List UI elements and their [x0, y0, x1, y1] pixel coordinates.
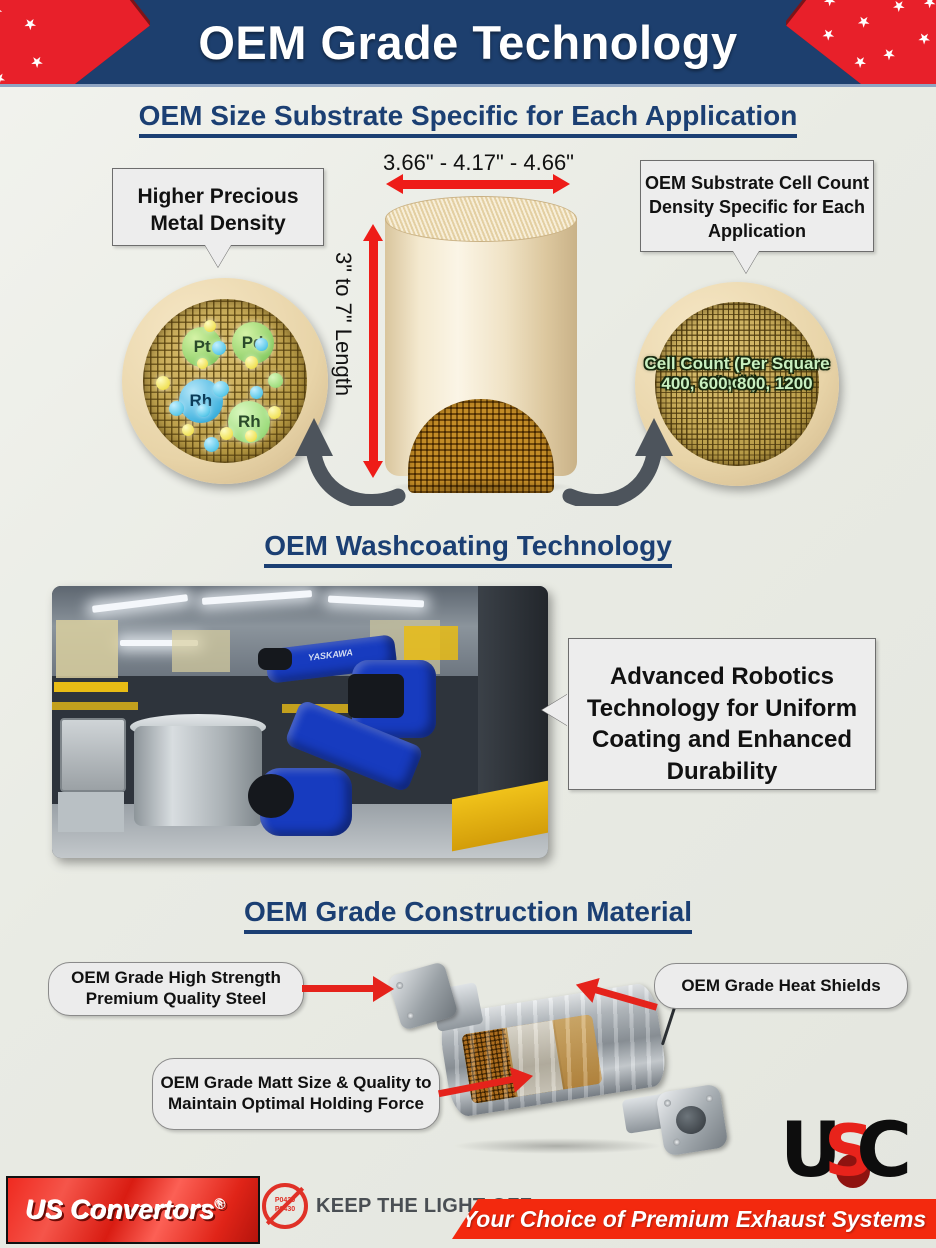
callout-matt-size: OEM Grade Matt Size & Quality to Maintai…	[152, 1058, 440, 1130]
callout-heat-shields: OEM Grade Heat Shields	[654, 963, 908, 1009]
flange-bolt	[406, 1011, 415, 1020]
particle	[212, 341, 226, 355]
robotics-photo: YASKAWA	[52, 586, 548, 858]
flange-bolt	[664, 1099, 672, 1107]
section-heading-construction-text: OEM Grade Construction Material	[244, 896, 692, 934]
photo-guardrail	[52, 702, 138, 710]
callout-advanced-robotics: Advanced Robotics Technology for Uniform…	[568, 638, 876, 790]
converter-shadow	[452, 1138, 662, 1154]
callout-premium-steel: OEM Grade High Strength Premium Quality …	[48, 962, 304, 1016]
arrow-head	[373, 976, 394, 1002]
us-convertors-text: US Convertors	[26, 1195, 215, 1225]
particle	[197, 358, 208, 369]
infographic-page: ★ ★ ★ ★ ★ ★ ★ ★ ★ ★ ★ ★ ★ ★ ★ ★ ★ ★	[0, 0, 936, 1248]
tagline-text: Your Choice of Premium Exhaust Systems	[462, 1206, 926, 1233]
header-banner: ★ ★ ★ ★ ★ ★ ★ ★ ★ ★ ★ ★ ★ ★ ★ ★ ★ ★	[0, 0, 936, 84]
particle	[156, 376, 170, 390]
particle	[268, 373, 283, 388]
flange-bolt	[395, 981, 404, 990]
robot-joint-cover	[348, 674, 404, 718]
tagline-banner: Your Choice of Premium Exhaust Systems	[452, 1199, 936, 1239]
particle	[204, 437, 219, 452]
substrate-cylinder	[385, 196, 577, 498]
cylinder-shadow	[389, 480, 575, 494]
callout-cell-count-density: OEM Substrate Cell Count Density Specifi…	[640, 160, 874, 252]
us-convertors-logo: US Convertors®	[6, 1176, 260, 1244]
robot-pivot	[248, 774, 294, 818]
no-dtc-icon: P0420 P0430	[262, 1183, 308, 1229]
callout-precious-metal-text: Higher Precious Metal Density	[113, 183, 323, 238]
length-label: 3" to 7" Length	[330, 252, 356, 396]
particle	[182, 424, 194, 436]
us-convertors-label: US Convertors®	[8, 1195, 225, 1226]
particle	[220, 427, 233, 440]
particle	[213, 381, 229, 397]
section-heading-washcoating: OEM Washcoating Technology	[0, 530, 936, 562]
oxygen-sensor-wire	[661, 1007, 676, 1046]
photo-pallet-rack	[172, 630, 230, 672]
curved-arrow-left	[286, 398, 406, 506]
header-rule	[0, 84, 936, 87]
honeycomb-grid-left: Pt Pd Rh Rh	[143, 299, 308, 464]
usc-logo-c: C	[856, 1114, 912, 1186]
callout-premium-steel-text: OEM Grade High Strength Premium Quality …	[49, 968, 303, 1009]
registered-mark: ®	[215, 1196, 225, 1212]
section-heading-substrate: OEM Size Substrate Specific for Each App…	[0, 100, 936, 132]
photo-pallet-rack	[56, 620, 118, 678]
page-title: OEM Grade Technology	[0, 0, 936, 84]
particle	[255, 338, 268, 351]
particle	[250, 386, 263, 399]
particle	[245, 356, 258, 369]
callout-heat-shields-text: OEM Grade Heat Shields	[681, 976, 880, 997]
photo-coating-tank	[134, 726, 262, 826]
flange-bolt	[705, 1095, 713, 1103]
callout-robotics-tail	[542, 694, 568, 726]
photo-guardrail	[54, 682, 128, 692]
robot-cable	[258, 648, 292, 670]
photo-crate	[404, 626, 458, 660]
callout-matt-size-text: OEM Grade Matt Size & Quality to Maintai…	[153, 1073, 439, 1114]
cell-count-values: 400, 600, 800, 1200	[635, 374, 839, 393]
arrow-to-steel	[302, 985, 374, 992]
callout-precious-metal-density: Higher Precious Metal Density	[112, 168, 324, 246]
diameter-arrow	[402, 180, 554, 189]
photo-panel	[58, 792, 124, 832]
cylinder-honeycomb-top	[385, 196, 577, 242]
callout-advanced-robotics-text: Advanced Robotics Technology for Uniform…	[569, 661, 875, 788]
particle	[268, 406, 281, 419]
particle	[204, 320, 216, 332]
callout-left-tail	[205, 245, 231, 267]
photo-column	[478, 586, 548, 814]
photo-control-cabinet	[60, 718, 126, 792]
particle	[197, 404, 210, 417]
usc-logo: U S C	[780, 1120, 912, 1192]
section-heading-washcoating-text: OEM Washcoating Technology	[264, 530, 672, 568]
particle	[169, 401, 184, 416]
flange-bolt	[673, 1138, 681, 1146]
diameter-label: 3.66" - 4.17" - 4.66"	[383, 150, 574, 176]
curved-arrow-right	[562, 398, 682, 506]
section-heading-substrate-text: OEM Size Substrate Specific for Each App…	[139, 100, 798, 138]
callout-cell-count-text: OEM Substrate Cell Count Density Specifi…	[641, 172, 873, 243]
section-heading-construction: OEM Grade Construction Material	[0, 896, 936, 928]
callout-right-tail	[733, 251, 759, 273]
